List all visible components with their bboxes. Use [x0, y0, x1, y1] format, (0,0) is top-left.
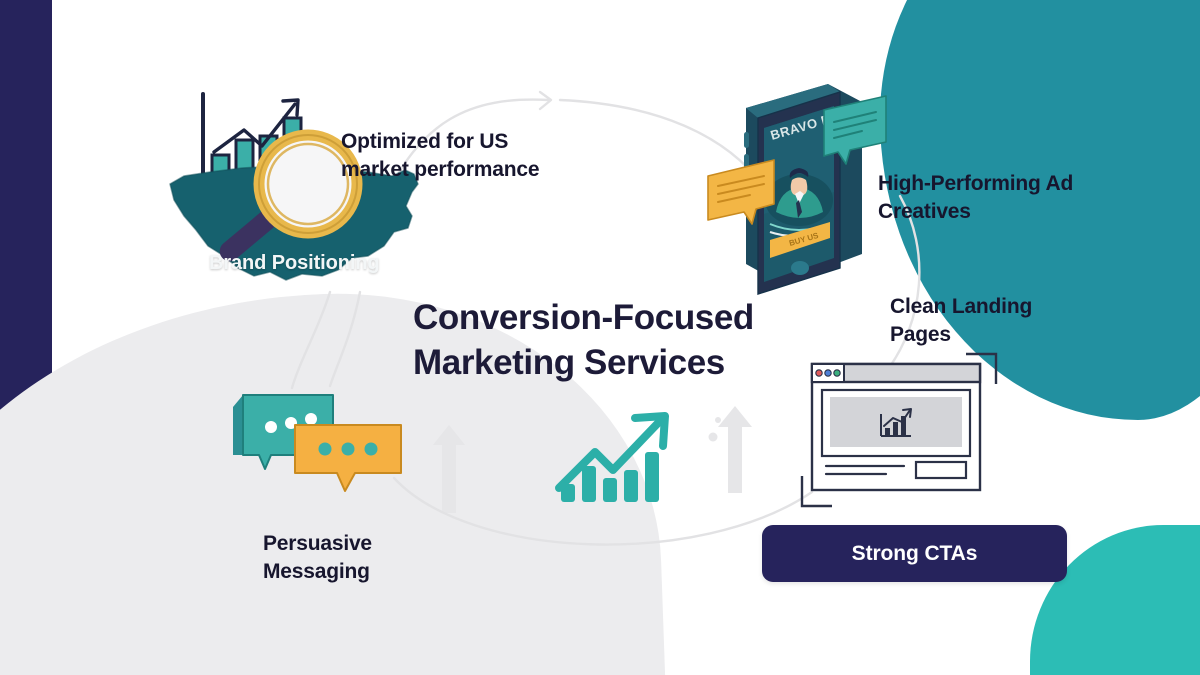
- label-optimized-us-market: Optimized for US market performance: [341, 128, 571, 185]
- label-clean-landing-pages: Clean Landing Pages: [890, 293, 1070, 350]
- headline-line-1: Conversion-Focused: [413, 298, 754, 337]
- growth-chart-icon: [555, 408, 680, 508]
- infographic-canvas: Brand Positioning BRAVO POWLES: [0, 0, 1200, 675]
- landing-page-illustration: [798, 350, 1003, 510]
- brand-positioning-label: Brand Positioning: [209, 252, 380, 275]
- page-title: Conversion-Focused Marketing Services: [413, 296, 813, 386]
- ad-creatives-illustration: BRAVO POWLES BUY US: [700, 72, 890, 307]
- orange-speech-bubble: [295, 425, 401, 491]
- strong-ctas-button[interactable]: Strong CTAs: [762, 525, 1067, 582]
- headline-line-2: Marketing Services: [413, 341, 813, 386]
- brand-positioning-illustration: [162, 80, 432, 310]
- mock-cta-button: [916, 462, 966, 478]
- label-high-performing-ad-creatives: High-Performing Ad Creatives: [878, 170, 1078, 227]
- persuasive-messaging-illustration: [225, 385, 415, 505]
- label-persuasive-messaging: Persuasive Messaging: [263, 530, 443, 587]
- strong-ctas-label: Strong CTAs: [852, 542, 978, 566]
